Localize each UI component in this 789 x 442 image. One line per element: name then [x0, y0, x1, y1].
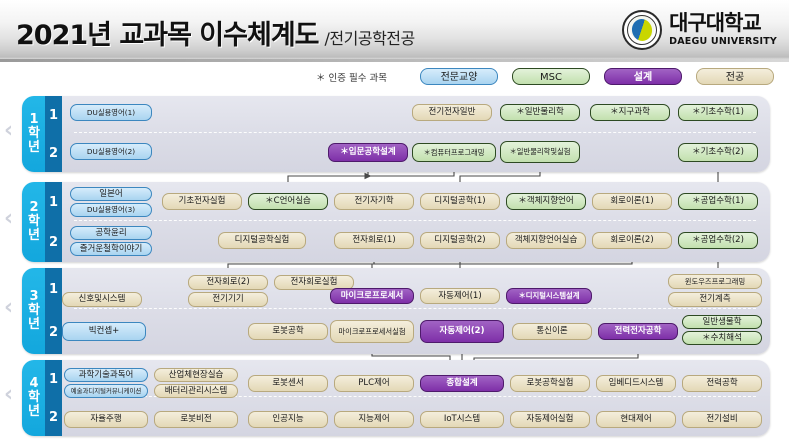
brand-lockup: 대구대학교 DAEGU UNIVERSITY	[622, 10, 777, 50]
course-box[interactable]: 전기자기학	[334, 193, 414, 210]
course-box[interactable]: 예술과디지털커뮤니케이션	[64, 384, 148, 398]
semester-label-1: 1	[49, 108, 58, 123]
semester-label-2: 2	[49, 410, 58, 425]
legend-chip-gyoyang: 전문교양	[420, 68, 498, 85]
year-tab-3[interactable]: 3학년12	[22, 268, 62, 354]
course-box[interactable]: ＊컴퓨터프로그래밍	[412, 143, 496, 162]
year-label: 3학년	[22, 268, 45, 354]
course-box[interactable]: IoT시스템	[420, 411, 504, 428]
course-box[interactable]: 디지털공학실험	[218, 232, 306, 249]
page-title: 2021년 교과목 이수체계도	[16, 13, 319, 52]
semester-label-2: 2	[49, 146, 58, 161]
brand-name-kr: 대구대학교	[669, 13, 777, 34]
semester-label-1: 1	[49, 195, 58, 210]
course-box[interactable]: 전자회로(2)	[188, 275, 268, 290]
course-box[interactable]: 로봇공학	[248, 323, 328, 340]
title-wrap: 2021년 교과목 이수체계도 /전기공학전공	[16, 13, 415, 52]
course-box[interactable]: 자율주행	[64, 411, 148, 428]
course-box[interactable]: ＊지구과학	[590, 104, 670, 121]
brand-text: 대구대학교 DAEGU UNIVERSITY	[669, 13, 777, 47]
year-label: 2학년	[22, 182, 45, 262]
course-box[interactable]: 객체지향언어실습	[506, 232, 586, 249]
band-chevron-icon: ‹	[4, 382, 13, 407]
course-box[interactable]: 디지털공학(1)	[420, 193, 500, 210]
course-box[interactable]: 디지털공학(2)	[420, 232, 500, 249]
course-box[interactable]: 로봇비전	[154, 411, 238, 428]
legend-note: ＊ 인증 필수 과목	[316, 70, 387, 84]
band-chevron-icon: ‹	[4, 118, 13, 143]
course-box[interactable]: 빅컨셉+	[62, 322, 146, 341]
band-chevron-icon: ‹	[4, 295, 13, 320]
course-box[interactable]: 전자회로(1)	[334, 232, 414, 249]
course-box[interactable]: 회로이론(2)	[592, 232, 672, 249]
semester-label-2: 2	[49, 325, 58, 340]
curriculum-flowchart-page: 2021년 교과목 이수체계도 /전기공학전공 대구대학교 DAEGU UNIV…	[0, 0, 789, 442]
course-box[interactable]: 종합설계	[420, 375, 504, 392]
course-box[interactable]: ＊공업수학(1)	[678, 193, 758, 210]
semester-labels: 12	[45, 268, 62, 354]
course-box[interactable]: 공학윤리	[70, 226, 152, 240]
semester-label-1: 1	[49, 372, 58, 387]
course-box[interactable]: ＊일반물리학	[500, 104, 580, 121]
course-box[interactable]: 산업체현장실습	[154, 368, 238, 382]
course-box[interactable]: 기초전자실험	[162, 193, 242, 210]
course-box[interactable]: ＊공업수학(2)	[678, 232, 758, 249]
course-box[interactable]: 윈도우즈프로그래밍	[668, 274, 762, 289]
course-box[interactable]: ＊C언어실습	[248, 193, 328, 210]
semester-label-1: 1	[49, 282, 58, 297]
semester-divider	[74, 220, 756, 221]
course-box[interactable]: 일반생물학	[682, 315, 762, 329]
course-box[interactable]: PLC제어	[334, 375, 414, 392]
course-box[interactable]: 전기설비	[682, 411, 762, 428]
year-tab-4[interactable]: 4학년12	[22, 360, 62, 436]
legend-chip-seolgye: 설계	[604, 68, 682, 85]
course-box[interactable]: 지능제어	[334, 411, 414, 428]
course-box[interactable]: DU실용영어(3)	[70, 203, 152, 217]
semester-labels: 12	[45, 360, 62, 436]
course-box[interactable]: ＊일반물리학및실험	[500, 141, 580, 163]
year-tab-2[interactable]: 2학년12	[22, 182, 62, 262]
course-box[interactable]: 자동제어(1)	[420, 288, 500, 304]
course-box[interactable]: 전기전자일반	[412, 104, 492, 121]
semester-label-2: 2	[49, 235, 58, 250]
band-chevron-icon: ‹	[4, 206, 13, 231]
course-box[interactable]: 임베디드시스템	[596, 375, 676, 392]
course-box[interactable]: 마이크로프로세서	[330, 288, 414, 304]
year-tab-1[interactable]: 1학년12	[22, 96, 62, 172]
course-box[interactable]: 전력공학	[682, 375, 762, 392]
course-box[interactable]: 즐거운철학이야기	[70, 242, 152, 256]
legend-chip-msc: MSC	[512, 68, 590, 85]
year-label: 1학년	[22, 96, 45, 172]
course-box[interactable]: ＊객체지향언어	[506, 193, 586, 210]
course-box[interactable]: ＊수치해석	[682, 331, 762, 345]
course-box[interactable]: DU실용영어(1)	[70, 104, 152, 121]
legend-chip-jeongong: 전공	[696, 68, 774, 85]
semester-divider	[74, 132, 756, 133]
course-box[interactable]: 자동제어(2)	[420, 320, 504, 343]
course-box[interactable]: DU실용영어(2)	[70, 143, 152, 160]
course-box[interactable]: 과학기술과독어	[64, 368, 148, 382]
university-crest-icon	[622, 10, 662, 50]
course-box[interactable]: 마이크로프로세서실험	[330, 320, 414, 343]
semester-labels: 12	[45, 96, 62, 172]
course-box[interactable]: 현대제어	[596, 411, 676, 428]
course-box[interactable]: 전력전자공학	[598, 323, 678, 340]
year-label: 4학년	[22, 360, 45, 436]
course-box[interactable]: ＊입문공학설계	[328, 143, 408, 162]
course-box[interactable]: 통신이론	[512, 323, 592, 340]
course-box[interactable]: ＊기초수학(2)	[678, 143, 758, 162]
semester-labels: 12	[45, 182, 62, 262]
brand-name-en: DAEGU UNIVERSITY	[669, 37, 777, 47]
course-box[interactable]: 회로이론(1)	[592, 193, 672, 210]
page-subtitle: /전기공학전공	[325, 25, 415, 49]
course-box[interactable]: ＊디지털시스템설계	[506, 288, 592, 304]
course-box[interactable]: 로봇공학실험	[510, 375, 590, 392]
course-box[interactable]: 전기계측	[668, 292, 762, 307]
course-box[interactable]: 신호및시스템	[62, 292, 142, 307]
course-box[interactable]: 로봇센서	[248, 375, 328, 392]
course-box[interactable]: 배터리관리시스템	[154, 384, 238, 398]
course-box[interactable]: ＊기초수학(1)	[678, 104, 758, 121]
page-header: 2021년 교과목 이수체계도 /전기공학전공 대구대학교 DAEGU UNIV…	[0, 0, 789, 62]
course-box[interactable]: 인공지능	[248, 411, 328, 428]
course-box[interactable]: 전기기기	[188, 292, 268, 307]
legend: ＊ 인증 필수 과목 전문교양MSC설계전공	[0, 66, 789, 90]
semester-divider	[74, 308, 756, 309]
course-box[interactable]: 자동제어실험	[510, 411, 590, 428]
course-box[interactable]: 일본어	[70, 187, 152, 201]
